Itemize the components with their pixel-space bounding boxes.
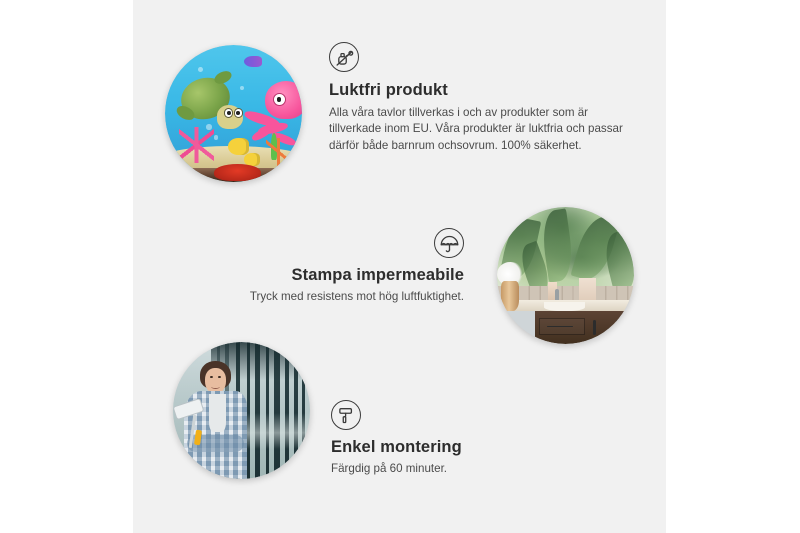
pink-coral xyxy=(179,127,215,163)
yellow-fish-icon xyxy=(228,138,249,154)
turtle-eye xyxy=(224,108,234,118)
bathroom-scene xyxy=(497,207,634,344)
drawer-handle xyxy=(547,326,573,328)
purple-fish-icon xyxy=(244,56,262,67)
turtle-eye xyxy=(234,108,244,118)
feature-description: Tryck med resistens mot hög luftfuktighe… xyxy=(196,289,464,305)
paint-roller-icon xyxy=(331,400,361,430)
feature-odorless: Luktfri produkt Alla våra tavlor tillver… xyxy=(329,42,629,154)
bubble-icon xyxy=(198,67,203,72)
painter-forest-scene xyxy=(173,342,310,479)
feature-title: Stampa impermeabile xyxy=(196,266,464,285)
orange-coral xyxy=(266,138,291,165)
feature-title: Luktfri produkt xyxy=(329,81,629,100)
sink-basin xyxy=(544,302,585,312)
red-crab xyxy=(214,164,261,180)
octopus-eye xyxy=(273,93,286,106)
umbrella-icon xyxy=(434,228,464,258)
cabinet-handle xyxy=(616,320,620,336)
feature-description: Alla våra tavlor tillverkas i och av pro… xyxy=(329,105,629,154)
feature-title: Enkel montering xyxy=(331,438,601,457)
person-smile xyxy=(211,384,219,388)
feature-assembly: Enkel montering Färgdig på 60 minuter. xyxy=(331,400,601,477)
cabinet-handle xyxy=(593,320,597,336)
feature-description: Färgdig på 60 minuter. xyxy=(331,461,601,477)
product-image-painter xyxy=(173,342,310,479)
vase xyxy=(501,281,519,311)
no-fragrance-icon xyxy=(329,42,359,72)
person-inner-shirt xyxy=(209,394,227,432)
promo-infographic: Luktfri produkt Alla våra tavlor tillver… xyxy=(0,0,800,533)
product-image-bathroom xyxy=(497,207,634,344)
wood-vanity-cabinet xyxy=(535,311,634,344)
feature-waterproof: Stampa impermeabile Tryck med resistens … xyxy=(196,228,464,305)
underwater-scene xyxy=(165,45,302,182)
product-image-underwater xyxy=(165,45,302,182)
